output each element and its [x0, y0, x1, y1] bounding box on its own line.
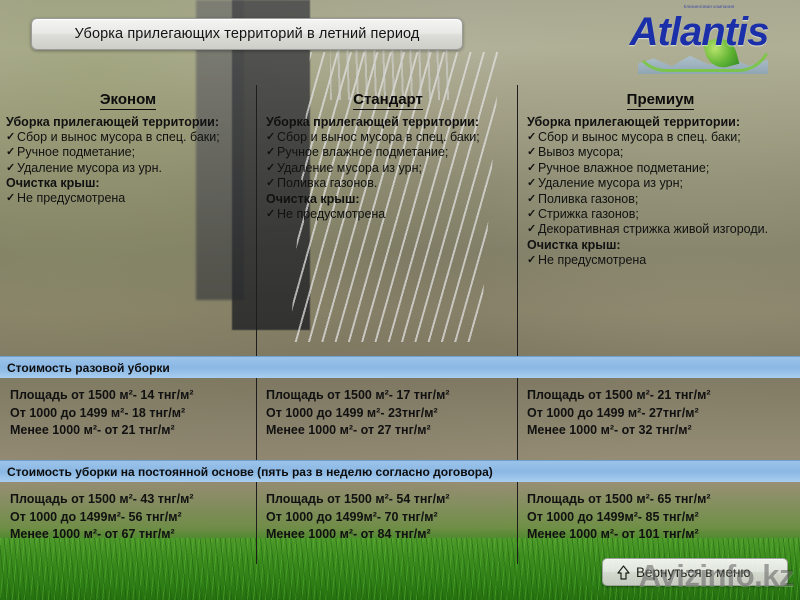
price-band-one-time-label: Стоимость разовой уборки — [0, 361, 170, 375]
service-column-econom: Эконом Уборка прилегающей территории: Сб… — [0, 85, 256, 207]
section-title: Очистка крыш: — [527, 238, 794, 253]
price-line: Площадь от 1500 м²- 65 тнг/м² — [527, 491, 797, 509]
company-logo: Клининговая компания Atlantis — [608, 2, 790, 80]
service-column-premium: Премиум Уборка прилегающей территории: С… — [519, 85, 800, 268]
price-cell-premium: Площадь от 1500 м²- 21 тнг/м² От 1000 до… — [527, 387, 797, 440]
service-columns: Эконом Уборка прилегающей территории: Сб… — [0, 85, 800, 375]
price-line: Менее 1000 м²- от 21 тнг/м² — [10, 422, 256, 440]
feature-list: Сбор и вынос мусора в спец. баки; Ручное… — [6, 130, 250, 176]
price-divider-2 — [517, 378, 518, 460]
back-to-menu-label: Вернуться в меню — [636, 565, 751, 580]
price-divider-2 — [517, 482, 518, 564]
section-title: Уборка прилегающей территории: — [527, 115, 794, 130]
price-line: Менее 1000 м²- от 101 тнг/м² — [527, 526, 797, 544]
list-item: Сбор и выноc мусора в спец. баки; — [527, 130, 794, 145]
price-line: Площадь от 1500 м²- 14 тнг/м² — [10, 387, 256, 405]
price-rows-one-time: Площадь от 1500 м²- 14 тнг/м² От 1000 до… — [0, 378, 800, 460]
price-band-recurring: Стоимость уборки на постоянной основе (п… — [0, 460, 800, 482]
price-line: Менее 1000 м²- от 67 тнг/м² — [10, 526, 256, 544]
feature-list: Сбор и выноc мусора в спец. баки; Ручное… — [266, 130, 510, 192]
list-item: Стрижка газонов; — [527, 207, 794, 222]
price-rows-recurring: Площадь от 1500 м²- 43 тнг/м² От 1000 до… — [0, 482, 800, 564]
section-title: Очистка крыш: — [266, 192, 510, 207]
price-line: От 1000 до 1499м²- 70 тнг/м² — [266, 509, 516, 527]
feature-list: Не предусмотрена — [527, 253, 794, 268]
column-header-standart-label: Стандарт — [353, 91, 423, 110]
list-item: Ручное влажное подметание; — [527, 161, 794, 176]
page-title: Уборка прилегающих территорий в летний п… — [75, 26, 420, 42]
price-line: От 1000 до 1499м²- 85 тнг/м² — [527, 509, 797, 527]
list-item: Не предусмотрена — [527, 253, 794, 268]
up-arrow-icon — [617, 565, 630, 580]
list-item: Удаление мусора из урн; — [527, 176, 794, 191]
column-divider-1 — [256, 85, 257, 371]
slide-title-plaque: Уборка прилегающих территорий в летний п… — [31, 18, 463, 50]
list-item: Удаление мусора из урн. — [6, 161, 250, 176]
section-title: Уборка прилегающей территории: — [266, 115, 510, 130]
list-item: Не предусмотрена — [6, 191, 250, 206]
list-item: Ручное подметание; — [6, 145, 250, 160]
logo-tagline: Клининговая компания — [666, 4, 752, 9]
price-divider-1 — [256, 378, 257, 460]
price-cell-econom: Площадь от 1500 м²- 14 тнг/м² От 1000 до… — [10, 387, 256, 440]
list-item: Поливка газонов; — [527, 192, 794, 207]
price-cell-standart: Площадь от 1500 м²- 17 тнг/м² От 1000 до… — [266, 387, 516, 440]
column-header-econom: Эконом — [6, 91, 250, 108]
back-to-menu-button[interactable]: Вернуться в меню — [602, 558, 788, 586]
section-title: Уборка прилегающей территории: — [6, 115, 250, 130]
section-title: Очистка крыш: — [6, 176, 250, 191]
list-item: Декоративная стрижка живой изгороди. — [527, 222, 794, 237]
price-line: От 1000 до 1499 м²- 23тнг/м² — [266, 405, 516, 423]
price-line: Менее 1000 м²- от 84 тнг/м² — [266, 526, 516, 544]
column-header-econom-label: Эконом — [100, 91, 156, 110]
list-item: Вывоз мусора; — [527, 145, 794, 160]
price-cell-standart: Площадь от 1500 м²- 54 тнг/м² От 1000 до… — [266, 491, 516, 544]
price-line: Менее 1000 м²- от 32 тнг/м² — [527, 422, 797, 440]
service-column-standart: Стандарт Уборка прилегающей территории: … — [258, 85, 516, 222]
list-item: Сбор и вынос мусора в спец. баки; — [6, 130, 250, 145]
price-line: От 1000 до 1499 м²- 27тнг/м² — [527, 405, 797, 423]
list-item: Не предусмотрена — [266, 207, 510, 222]
list-item: Ручное влажное подметание; — [266, 145, 510, 160]
price-line: Площадь от 1500 м²- 21 тнг/м² — [527, 387, 797, 405]
list-item: Поливка газонов. — [266, 176, 510, 191]
list-item: Сбор и выноc мусора в спец. баки; — [266, 130, 510, 145]
price-cell-econom: Площадь от 1500 м²- 43 тнг/м² От 1000 до… — [10, 491, 256, 544]
price-cell-premium: Площадь от 1500 м²- 65 тнг/м² От 1000 до… — [527, 491, 797, 544]
slide-root: Уборка прилегающих территорий в летний п… — [0, 0, 800, 600]
column-header-premium-label: Премиум — [627, 91, 695, 110]
feature-list: Не предусмотрена — [6, 191, 250, 206]
price-line: От 1000 до 1499м²- 56 тнг/м² — [10, 509, 256, 527]
column-divider-2 — [517, 85, 518, 371]
column-header-premium: Премиум — [527, 91, 794, 108]
price-line: Площадь от 1500 м²- 54 тнг/м² — [266, 491, 516, 509]
feature-list: Не предусмотрена — [266, 207, 510, 222]
price-line: От 1000 до 1499 м²- 18 тнг/м² — [10, 405, 256, 423]
price-band-one-time: Стоимость разовой уборки — [0, 356, 800, 378]
price-line: Менее 1000 м²- от 27 тнг/м² — [266, 422, 516, 440]
logo-wordmark: Atlantis — [608, 10, 790, 54]
column-header-standart: Стандарт — [266, 91, 510, 108]
list-item: Удаление мусора из урн; — [266, 161, 510, 176]
feature-list: Сбор и выноc мусора в спец. баки; Вывоз … — [527, 130, 794, 238]
price-line: Площадь от 1500 м²- 43 тнг/м² — [10, 491, 256, 509]
price-line: Площадь от 1500 м²- 17 тнг/м² — [266, 387, 516, 405]
price-band-recurring-label: Стоимость уборки на постоянной основе (п… — [0, 465, 493, 479]
price-divider-1 — [256, 482, 257, 564]
